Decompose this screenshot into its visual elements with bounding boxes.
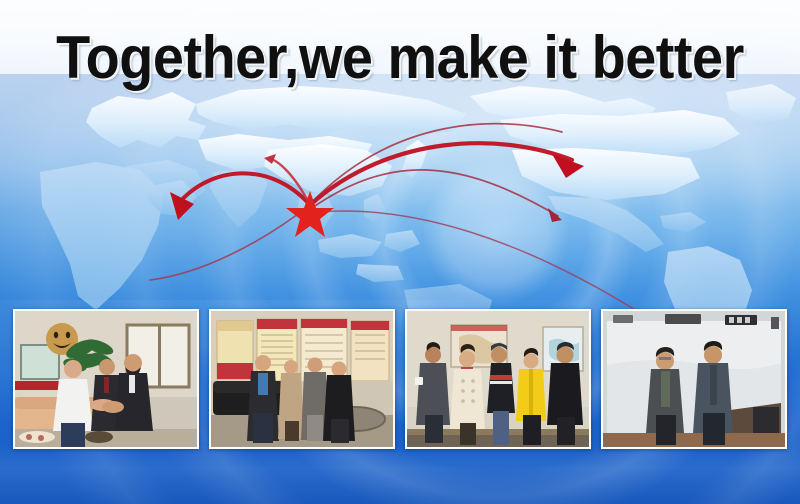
route-to-europe-africa [178, 173, 310, 205]
arrowhead-east [552, 154, 584, 178]
photo-inner [211, 311, 393, 447]
bottom-sheen [0, 444, 800, 504]
photo-inner [603, 311, 785, 447]
arrowhead-short-north [264, 154, 276, 164]
photo-handshake-office[interactable] [13, 309, 199, 449]
company-banner: Together,we make it better [0, 0, 800, 504]
red-star-marker [286, 191, 334, 237]
route-to-north-america [310, 143, 572, 205]
photo-inner [407, 311, 589, 447]
photo-two-men-whiteboard[interactable] [601, 309, 787, 449]
route-to-west-coast [312, 170, 558, 216]
arrowhead-west-coast [548, 208, 562, 222]
route-short-north [268, 158, 310, 205]
page-title: Together,we make it better [28, 28, 772, 88]
photo-strip [13, 309, 787, 449]
photo-group-wall-charts[interactable] [209, 309, 395, 449]
photo-group-winter-coats[interactable] [405, 309, 591, 449]
arrowhead-west [170, 192, 194, 220]
route-to-south-asia-line [150, 205, 310, 280]
photo-inner [15, 311, 197, 447]
route-to-north-america-secondary [312, 124, 562, 202]
